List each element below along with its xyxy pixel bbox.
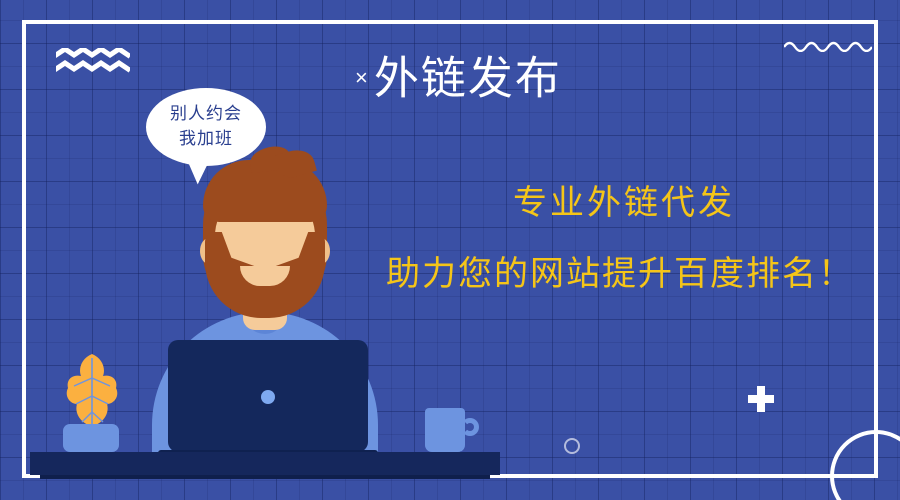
speech-bubble-line-2: 我加班: [146, 126, 266, 151]
speech-bubble-text: 别人约会 我加班: [146, 101, 266, 151]
desk-edge: [40, 475, 490, 479]
poster-canvas: ×外链发布 专业外链代发 助力您的网站提升百度排名！ 别人约会 我加班: [0, 0, 900, 500]
coffee-mug: [425, 408, 465, 452]
desk-surface: [30, 452, 500, 475]
speech-bubble-line-1: 别人约会: [146, 101, 266, 126]
laptop-logo-dot: [261, 390, 275, 404]
speech-bubble: 别人约会 我加班: [146, 88, 266, 166]
plant-leaf-icon: [62, 352, 122, 430]
plant-pot: [63, 424, 119, 452]
